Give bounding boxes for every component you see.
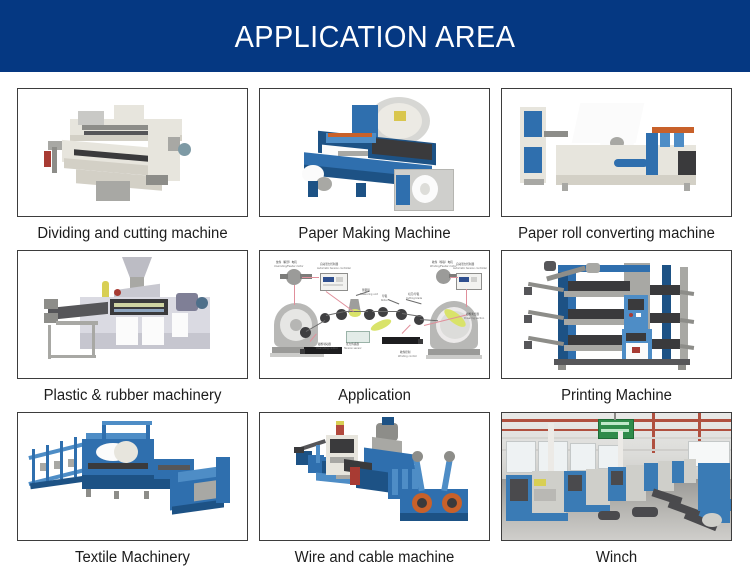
thumbnail-printing-machine[interactable] [501,250,732,379]
illustration-paper-roll-converter [502,89,731,216]
grid-cell-dividing-and-cutting-machine[interactable]: Dividing and cutting machine [17,88,248,250]
caption-dividing-and-cutting-machine: Dividing and cutting machine [22,217,244,250]
grid-cell-paper-making-machine[interactable]: Paper Making Machine [259,88,490,250]
illustration-textile-line [18,413,247,540]
illustration-winch-factory [502,413,731,540]
page-title: APPLICATION AREA [235,21,516,52]
thumbnail-paper-roll-converting-machine[interactable] [501,88,732,217]
page-header-banner: APPLICATION AREA [0,0,750,72]
grid-cell-printing-machine[interactable]: Printing Machine [501,250,732,412]
illustration-paper-making-machine [260,89,489,216]
caption-textile-machinery: Textile Machinery [22,541,244,574]
caption-application: Application [264,379,486,412]
caption-plastic-and-rubber-machinery: Plastic & rubber machinery [22,379,244,412]
grid-cell-wire-and-cable-machine[interactable]: Wire and cable machine [259,412,490,574]
illustration-slitting-machine [18,89,247,216]
thumbnail-wire-and-cable-machine[interactable] [259,412,490,541]
thumbnail-winch[interactable] [501,412,732,541]
illustration-extrusion-line [18,251,247,378]
caption-paper-roll-converting-machine: Paper roll converting machine [506,217,728,250]
grid-cell-paper-roll-converting-machine[interactable]: Paper roll converting machine [501,88,732,250]
caption-wire-and-cable-machine: Wire and cable machine [264,541,486,574]
illustration-flexo-printing-machine [502,251,731,378]
thumbnail-dividing-and-cutting-machine[interactable] [17,88,248,217]
thumbnail-textile-machinery[interactable] [17,412,248,541]
thumbnail-application-diagram[interactable]: 放卷（解舒）电机 Unwinding/Feeder motor 自动张力控制器 … [259,250,490,379]
grid-cell-application[interactable]: 放卷（解舒）电机 Unwinding/Feeder motor 自动张力控制器 … [259,250,490,412]
illustration-wire-cable-line [260,413,489,540]
thumbnail-paper-making-machine[interactable] [259,88,490,217]
caption-winch: Winch [506,541,728,574]
caption-printing-machine: Printing Machine [506,379,728,412]
caption-paper-making-machine: Paper Making Machine [264,217,486,250]
application-grid: Dividing and cutting machine [17,88,733,574]
application-area-page: APPLICATION AREA [0,0,750,568]
grid-cell-winch[interactable]: Winch [501,412,732,574]
thumbnail-plastic-and-rubber-machinery[interactable] [17,250,248,379]
grid-cell-textile-machinery[interactable]: Textile Machinery [17,412,248,574]
illustration-tension-control-diagram: 放卷（解舒）电机 Unwinding/Feeder motor 自动张力控制器 … [260,251,489,378]
grid-cell-plastic-and-rubber-machinery[interactable]: Plastic & rubber machinery [17,250,248,412]
